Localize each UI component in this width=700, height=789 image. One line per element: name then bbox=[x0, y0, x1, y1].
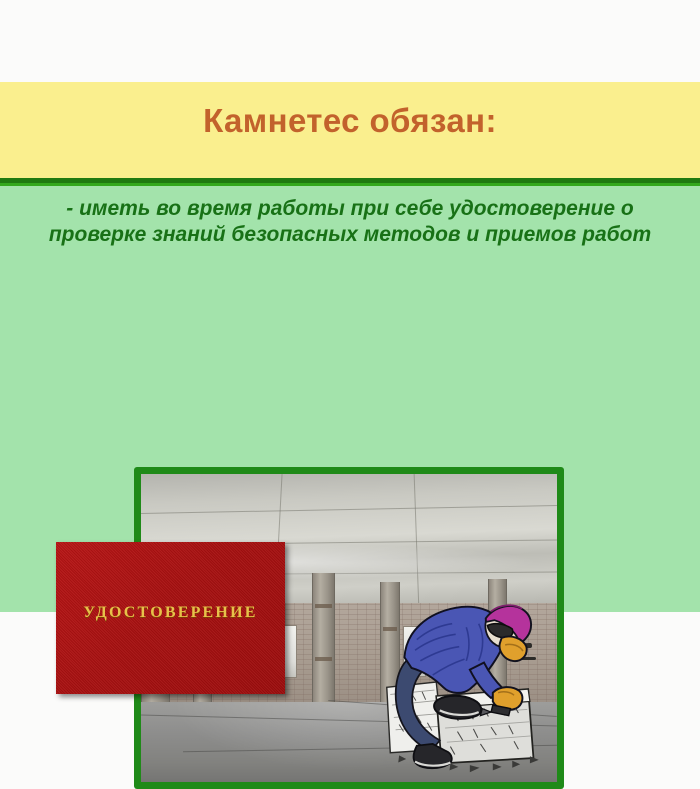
photo-column bbox=[312, 573, 336, 718]
stonemason-svg bbox=[370, 576, 557, 779]
certificate-card: УДОСТОВЕРЕНИЕ bbox=[56, 542, 285, 694]
stonemason-illustration bbox=[370, 576, 557, 779]
certificate-label: УДОСТОВЕРЕНИЕ bbox=[56, 604, 285, 622]
worker-boot-front bbox=[434, 695, 481, 718]
content-panel: - иметь во время работы при себе удостов… bbox=[0, 186, 700, 612]
body-text: - иметь во время работы при себе удостов… bbox=[28, 196, 672, 248]
slide-root: Камнетес обязан: - иметь во время работы… bbox=[0, 0, 700, 700]
title-banner: Камнетес обязан: bbox=[0, 82, 700, 178]
page-title: Камнетес обязан: bbox=[0, 102, 700, 140]
